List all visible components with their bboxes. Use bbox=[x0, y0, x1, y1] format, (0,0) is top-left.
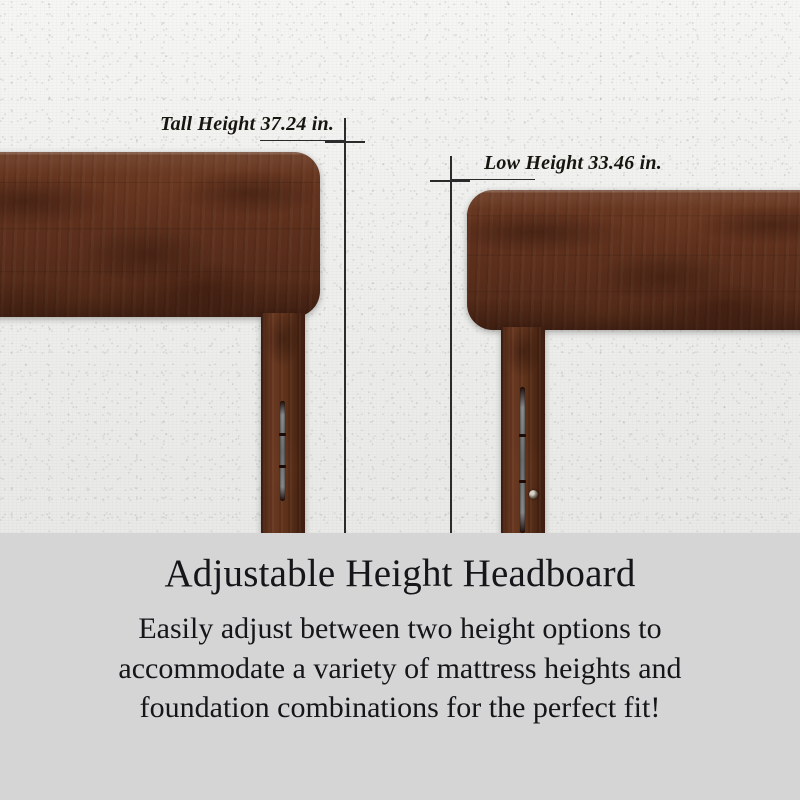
dimension-line-tall bbox=[344, 118, 346, 533]
dimension-label-low: Low Height 33.46 in. bbox=[484, 152, 662, 175]
headboard-panel-tall bbox=[0, 152, 320, 317]
adjustment-slot-icon bbox=[280, 401, 285, 501]
product-image: Tall Height 37.24 in. Low Height 33.46 i… bbox=[0, 0, 800, 800]
headboard-leg-low bbox=[501, 327, 545, 533]
caption-line: accommodate a variety of mattress height… bbox=[50, 649, 750, 689]
panel-sheen-low bbox=[467, 190, 800, 330]
headboard-panel-low bbox=[467, 190, 800, 330]
headboard-leg-tall bbox=[261, 313, 305, 533]
label-underline-tall bbox=[260, 140, 345, 141]
caption-title: Adjustable Height Headboard bbox=[164, 554, 635, 595]
caption-body: Easily adjust between two height options… bbox=[50, 609, 750, 728]
panel-sheen-tall bbox=[0, 152, 320, 317]
bolt-icon bbox=[529, 490, 538, 499]
headboard-photo: Tall Height 37.24 in. Low Height 33.46 i… bbox=[0, 0, 800, 533]
dimension-line-low bbox=[450, 156, 452, 533]
caption-band: Adjustable Height Headboard Easily adjus… bbox=[0, 533, 800, 800]
dimension-tick-tall bbox=[325, 141, 365, 143]
adjustment-slot-icon bbox=[520, 387, 525, 533]
dimension-tick-low bbox=[430, 180, 470, 182]
label-underline-low bbox=[450, 179, 535, 180]
caption-line: Easily adjust between two height options… bbox=[50, 609, 750, 649]
dimension-label-tall: Tall Height 37.24 in. bbox=[160, 113, 334, 136]
caption-line: foundation combinations for the perfect … bbox=[50, 688, 750, 728]
